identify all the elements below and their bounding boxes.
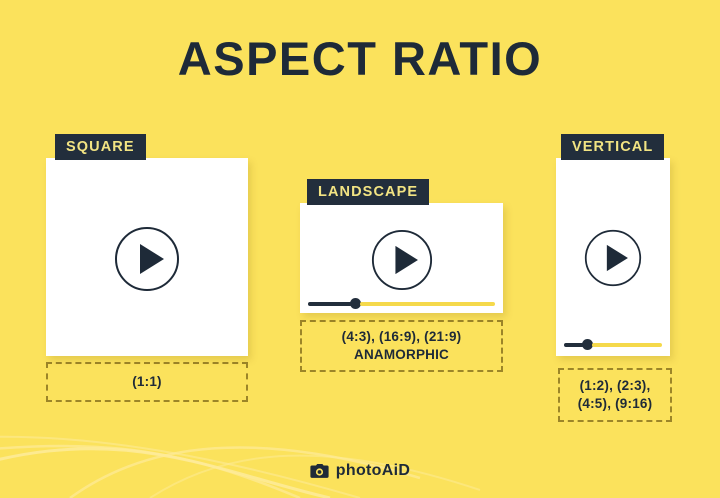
card-tag-square: SQUARE [55,134,146,160]
page-title: ASPECT RATIO [0,34,720,83]
progress-track [592,343,662,347]
video-frame-square[interactable] [46,158,248,356]
caption-landscape: (4:3), (16:9), (21:9) ANAMORPHIC [300,320,503,372]
caption-vertical: (1:2), (2:3), (4:5), (9:16) [558,368,672,422]
progress-track [360,302,495,306]
logo-text: photoAiD [336,462,410,480]
progress-fill [308,302,352,306]
footer-logo: photoAiD [0,462,720,480]
caption-square: (1:1) [46,362,248,402]
caption-line: ANAMORPHIC [354,346,449,364]
progress-bar-vertical[interactable] [564,340,662,349]
caption-line: (4:5), (9:16) [578,395,653,413]
caption-line: (1:2), (2:3), [580,377,651,395]
caption-line: (4:3), (16:9), (21:9) [342,328,462,346]
infographic-canvas: ASPECT RATIO SQUARE (1:1) LANDSCAPE [0,0,720,498]
play-icon[interactable] [114,226,180,292]
camera-icon [310,464,329,479]
play-icon[interactable] [584,229,642,287]
progress-bar-landscape[interactable] [308,299,495,308]
card-tag-vertical: VERTICAL [561,134,664,160]
caption-line: (1:1) [132,373,162,391]
progress-fill [564,343,584,347]
card-tag-landscape: LANDSCAPE [307,179,429,205]
play-icon[interactable] [371,229,433,291]
